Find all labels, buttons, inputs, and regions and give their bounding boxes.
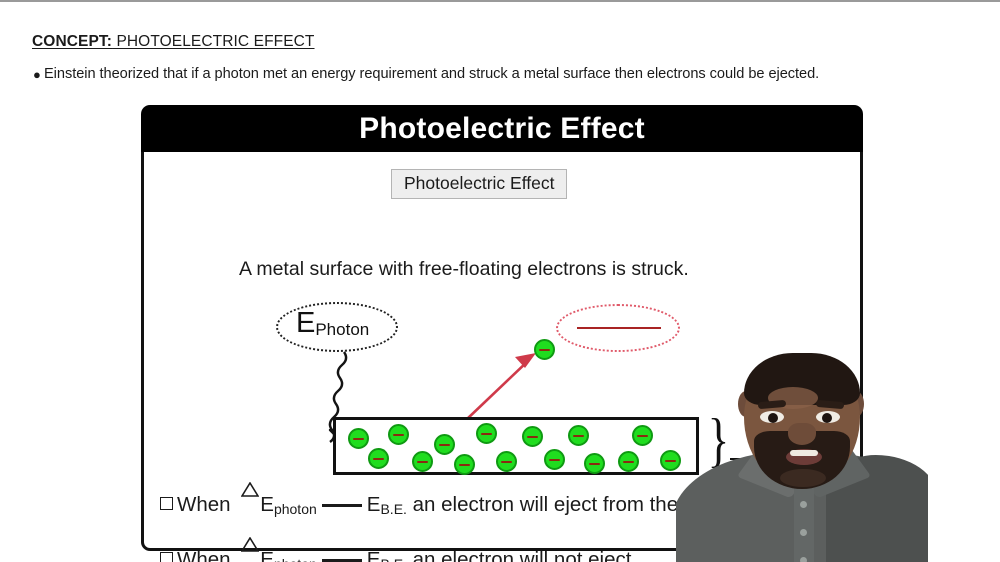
bullet-text: Einstein theorized that if a photon met … — [44, 66, 819, 82]
delta-e-subscript-2: photon — [274, 556, 317, 562]
photon-energy-symbol: E — [296, 307, 315, 339]
subtitle-chip: Photoelectric Effect — [391, 169, 567, 199]
concept-heading: CONCEPT: PHOTOELECTRIC EFFECT — [32, 33, 315, 51]
checklist-tail-1: an electron will eject from the — [407, 493, 678, 516]
free-electron-icon — [368, 448, 389, 469]
free-electron-icon — [476, 423, 497, 444]
checkbox-icon[interactable] — [160, 497, 173, 510]
delta-e-subscript-1: photon — [274, 501, 317, 517]
photon-energy-subscript: Photon — [315, 320, 369, 339]
free-electron-icon — [632, 425, 653, 446]
checklist-when-1: When — [177, 493, 231, 516]
slide-banner-title: Photoelectric Effect — [359, 114, 645, 144]
checkbox-icon[interactable] — [160, 552, 173, 562]
free-electron-icon — [584, 453, 605, 474]
concept-keyword: CONCEPT: — [32, 33, 112, 50]
checklist-when-2: When — [177, 548, 231, 562]
free-electron-icon — [388, 424, 409, 445]
checklist-tail-2: an electron will not eject — [407, 548, 631, 562]
free-electron-icon — [544, 449, 565, 470]
checklist-row-2: When EphotonEB.E. an electron will not e… — [160, 548, 631, 562]
free-electron-icon — [454, 454, 475, 475]
metal-surface-box — [333, 417, 699, 475]
instructor-pupil-right — [822, 413, 832, 423]
instructor-webcam-overlay — [676, 343, 928, 562]
free-electron-icon — [496, 451, 517, 472]
concept-title: PHOTOELECTRIC EFFECT — [112, 33, 314, 50]
photon-energy-label: EPhoton — [296, 307, 369, 340]
free-electron-icon — [434, 434, 455, 455]
triangle-delta-icon — [241, 497, 259, 512]
instructor-teeth — [790, 450, 818, 456]
ejection-arrow-icon — [466, 353, 536, 420]
instructor-chin — [780, 469, 826, 487]
delta-e-symbol-1: E — [260, 493, 274, 516]
instructor-nose — [788, 423, 816, 445]
slide-banner: Photoelectric Effect — [141, 105, 863, 153]
instructor-shirt-button — [800, 557, 807, 562]
free-electron-icon — [348, 428, 369, 449]
binding-e-symbol-2: E — [367, 548, 381, 562]
free-electron-icon — [522, 426, 543, 447]
binding-e-subscript-2: B.E. — [380, 556, 406, 562]
binding-e-subscript-1: B.E. — [380, 501, 406, 517]
bullet-dot-icon: ● — [33, 67, 44, 82]
bullet-statement: ●Einstein theorized that if a photon met… — [33, 66, 819, 82]
instructor-pupil-left — [768, 413, 778, 423]
checklist-row-1: When EphotonEB.E. an electron will eject… — [160, 493, 678, 517]
delta-e-symbol-2: E — [260, 548, 274, 562]
free-electron-icon — [412, 451, 433, 472]
triangle-delta-icon — [241, 552, 259, 562]
instructor-shirt-button — [800, 501, 807, 508]
blank-answer-1[interactable] — [322, 504, 362, 507]
slide-statement: A metal surface with free-floating elect… — [239, 258, 689, 281]
instructor-shirt-placket — [794, 479, 814, 562]
screenshot-root: CONCEPT: PHOTOELECTRIC EFFECT ●Einstein … — [0, 0, 1000, 562]
instructor-shirt-button — [800, 529, 807, 536]
answer-blank-rule — [577, 327, 661, 329]
binding-e-symbol-1: E — [367, 493, 381, 516]
free-electron-icon — [568, 425, 589, 446]
free-electron-icon — [618, 451, 639, 472]
ejected-electron-icon — [534, 339, 555, 360]
